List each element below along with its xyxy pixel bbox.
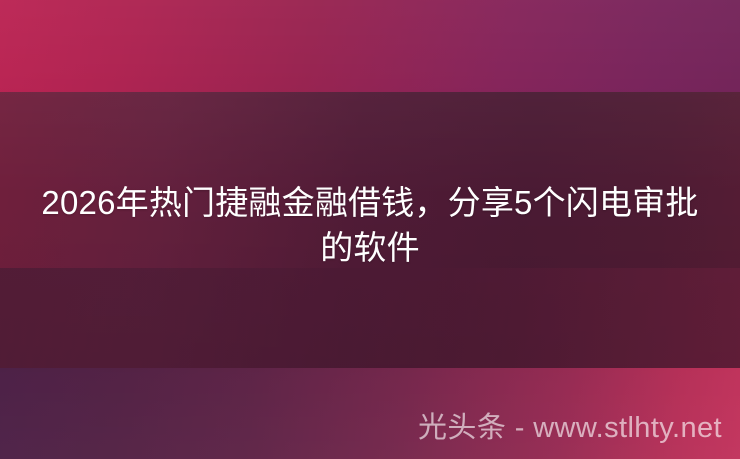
page-title: 2026年热门捷融金融借钱，分享5个闪电审批的软件 <box>25 180 715 280</box>
cover-banner: 2026年热门捷融金融借钱，分享5个闪电审批的软件 光头条 - www.stlh… <box>0 0 740 459</box>
site-watermark: 光头条 - www.stlhty.net <box>418 411 722 445</box>
title-container: 2026年热门捷融金融借钱，分享5个闪电审批的软件 <box>0 0 740 459</box>
